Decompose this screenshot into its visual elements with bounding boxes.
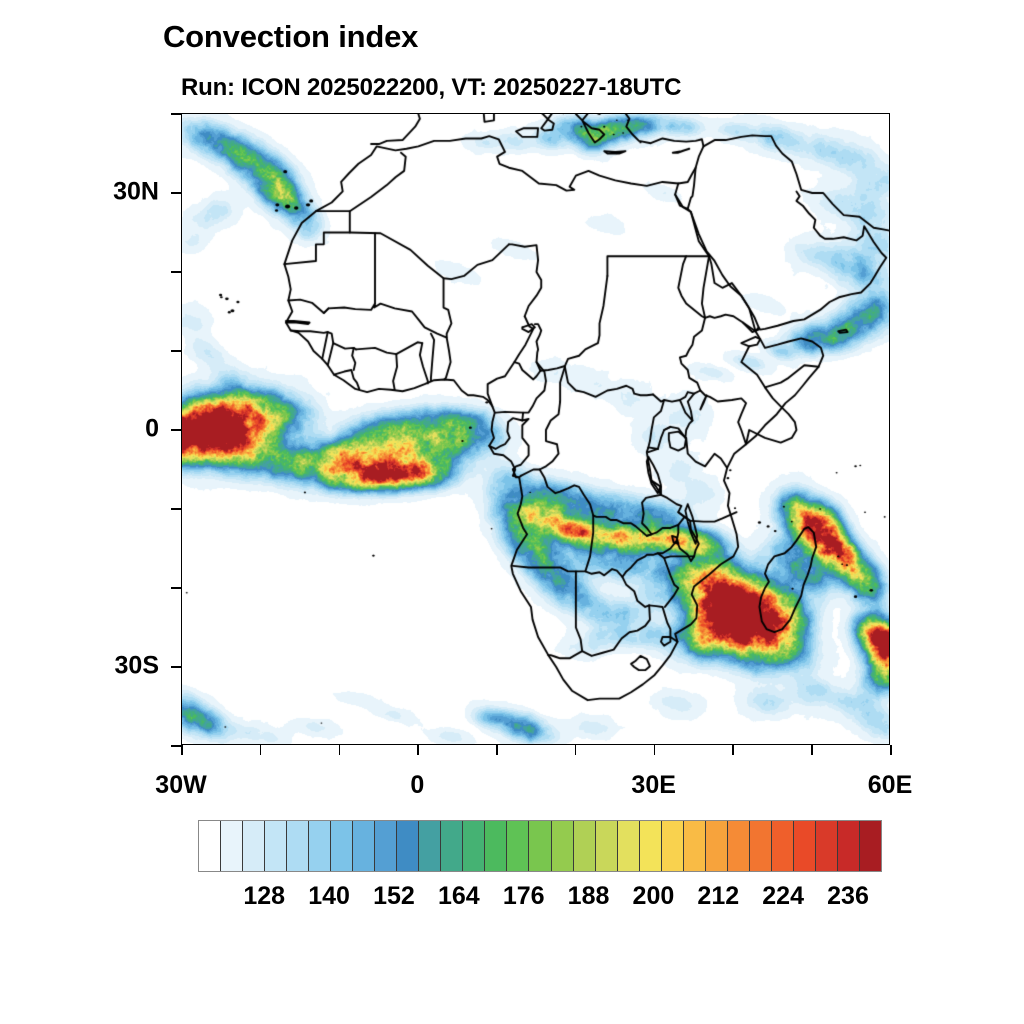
x-axis-tick bbox=[339, 745, 341, 755]
colorbar-label: 140 bbox=[308, 882, 350, 911]
colorbar-segment bbox=[618, 821, 640, 871]
colorbar-segment bbox=[750, 821, 772, 871]
colorbar-segment bbox=[640, 821, 662, 871]
colorbar-segment bbox=[199, 821, 221, 871]
colorbar-segment bbox=[485, 821, 507, 871]
page-subtitle: Run: ICON 2025022200, VT: 20250227-18UTC bbox=[181, 74, 681, 102]
x-axis-tick bbox=[181, 745, 183, 755]
colorbar-segment bbox=[706, 821, 728, 871]
colorbar-segment bbox=[552, 821, 574, 871]
colorbar-label: 128 bbox=[243, 882, 285, 911]
colorbar-segment bbox=[375, 821, 397, 871]
colorbar-segment bbox=[772, 821, 794, 871]
x-axis-label: 30E bbox=[631, 771, 675, 800]
colorbar-segment bbox=[221, 821, 243, 871]
colorbar-segment bbox=[463, 821, 485, 871]
colorbar-segment bbox=[309, 821, 331, 871]
y-axis-tick bbox=[171, 587, 181, 589]
convection-index-map-page: Convection index Run: ICON 2025022200, V… bbox=[0, 0, 1024, 1024]
colorbar-segment bbox=[684, 821, 706, 871]
colorbar-segment bbox=[794, 821, 816, 871]
coastline-border-overlay bbox=[182, 114, 890, 745]
x-axis-label: 30W bbox=[155, 771, 206, 800]
y-axis-label: 0 bbox=[145, 415, 159, 444]
colorbar bbox=[198, 820, 882, 872]
map-plot-area bbox=[181, 113, 890, 745]
y-axis-tick bbox=[171, 271, 181, 273]
colorbar-segment bbox=[816, 821, 838, 871]
colorbar-segment bbox=[441, 821, 463, 871]
colorbar-segment bbox=[596, 821, 618, 871]
y-axis-label: 30N bbox=[113, 178, 159, 207]
colorbar-segment bbox=[507, 821, 529, 871]
colorbar-segment bbox=[243, 821, 265, 871]
x-axis-tick bbox=[496, 745, 498, 755]
y-axis-tick bbox=[171, 429, 181, 431]
x-axis-tick bbox=[575, 745, 577, 755]
colorbar-label: 164 bbox=[438, 882, 480, 911]
colorbar-segment bbox=[860, 821, 881, 871]
x-axis-tick bbox=[732, 745, 734, 755]
colorbar-segment bbox=[662, 821, 684, 871]
y-axis-tick bbox=[171, 745, 181, 747]
colorbar-segment bbox=[353, 821, 375, 871]
colorbar-label: 236 bbox=[827, 882, 869, 911]
colorbar-segment bbox=[331, 821, 353, 871]
x-axis-tick bbox=[417, 745, 419, 755]
x-axis-tick bbox=[811, 745, 813, 755]
colorbar-segment bbox=[838, 821, 860, 871]
colorbar-label: 224 bbox=[762, 882, 804, 911]
y-axis-label: 30S bbox=[115, 652, 159, 681]
colorbar-segment bbox=[287, 821, 309, 871]
colorbar-segment bbox=[728, 821, 750, 871]
colorbar-label: 200 bbox=[633, 882, 675, 911]
colorbar-segment bbox=[574, 821, 596, 871]
page-title: Convection index bbox=[163, 19, 418, 55]
colorbar-gradient bbox=[198, 820, 882, 872]
x-axis-tick bbox=[260, 745, 262, 755]
colorbar-segment bbox=[419, 821, 441, 871]
x-axis-label: 60E bbox=[868, 771, 912, 800]
x-axis-tick bbox=[890, 745, 892, 755]
colorbar-label: 212 bbox=[697, 882, 739, 911]
colorbar-segment bbox=[397, 821, 419, 871]
colorbar-label: 152 bbox=[373, 882, 415, 911]
y-axis-tick bbox=[171, 666, 181, 668]
colorbar-label: 176 bbox=[503, 882, 545, 911]
y-axis-tick bbox=[171, 192, 181, 194]
colorbar-label: 188 bbox=[568, 882, 610, 911]
colorbar-segment bbox=[529, 821, 551, 871]
x-axis-tick bbox=[654, 745, 656, 755]
y-axis-tick bbox=[171, 113, 181, 115]
y-axis-tick bbox=[171, 350, 181, 352]
colorbar-segment bbox=[265, 821, 287, 871]
x-axis-label: 0 bbox=[410, 771, 424, 800]
y-axis-tick bbox=[171, 508, 181, 510]
